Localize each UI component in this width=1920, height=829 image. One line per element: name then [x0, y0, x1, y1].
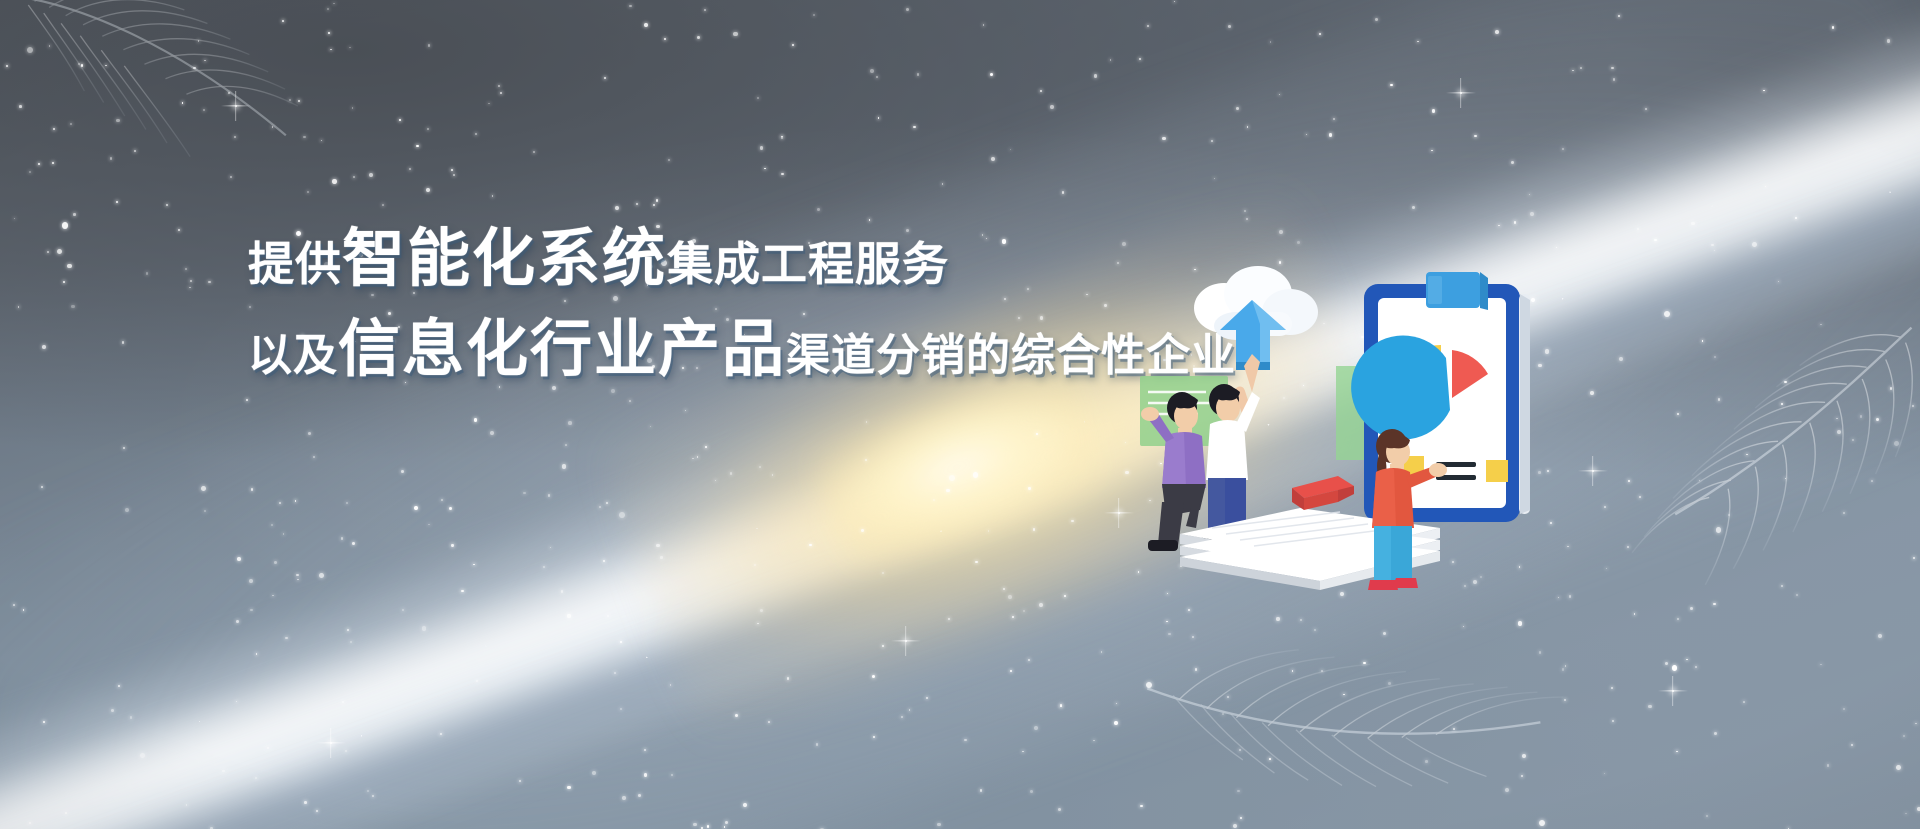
hero-banner: 提供 智能化系统 集成工程服务 以及 信息化行业产品 渠道分销的综合性企业	[0, 0, 1920, 829]
feather-bottom-center	[1117, 622, 1604, 829]
headline-line1-lead: 提供	[248, 241, 342, 287]
red-arrow	[1292, 476, 1354, 510]
feather-top-left	[0, 0, 326, 177]
headline-line1-emphasis: 智能化系统	[342, 228, 667, 291]
sitting-man	[1141, 392, 1206, 551]
headline-line2-lead: 以及	[248, 334, 338, 378]
business-analytics-illustration	[1140, 266, 1560, 596]
headline-line1-tail: 集成工程服务	[667, 241, 949, 287]
headline-line2-emphasis: 信息化行业产品	[338, 319, 786, 381]
headline-line-1: 提供 智能化系统 集成工程服务	[248, 228, 1236, 291]
feather-right	[1584, 317, 1920, 623]
headline-line-2: 以及 信息化行业产品 渠道分销的综合性企业	[248, 319, 1236, 381]
headline-block: 提供 智能化系统 集成工程服务 以及 信息化行业产品 渠道分销的综合性企业	[248, 228, 1236, 381]
